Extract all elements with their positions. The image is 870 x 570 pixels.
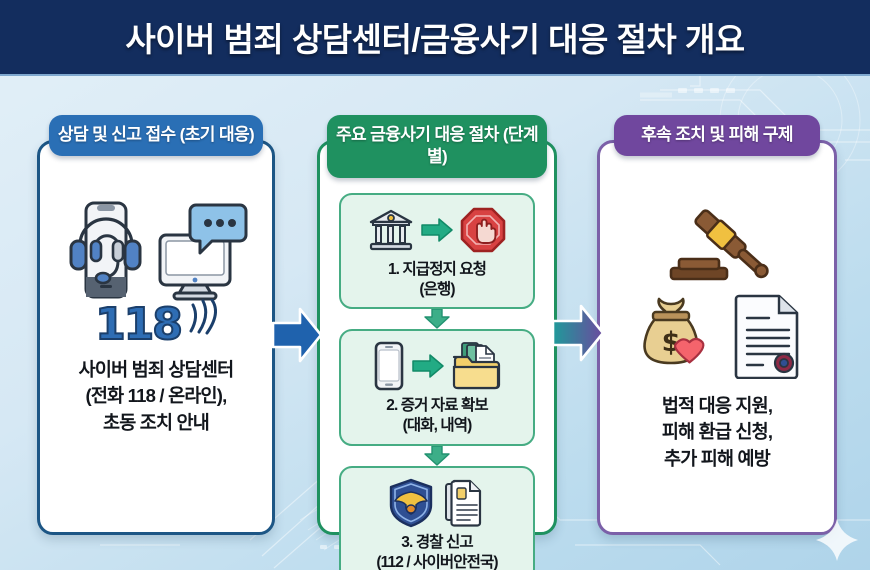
report-documents-icon	[444, 478, 486, 528]
stop-hand-icon	[459, 206, 507, 254]
step-connector-2	[423, 446, 451, 466]
step-3-label: 3. 경찰 신고 (112 / 사이버안전국)	[376, 533, 497, 570]
folder-documents-icon	[450, 341, 502, 391]
followup-caption: 법적 대응 지원, 피해 환급 신청, 추가 피해 예방	[662, 393, 772, 472]
arrow-right-icon	[272, 305, 322, 365]
panel-process: 주요 금융사기 대응 절차 (단계별)	[317, 140, 557, 535]
panel-followup: 후속 조치 및 피해 구제 $	[597, 140, 837, 535]
panel-followup-header: 후속 조치 및 피해 구제	[614, 115, 820, 156]
step-1-label: 1. 지급정지 요청 (은행)	[388, 260, 486, 300]
step-2-icons	[372, 338, 502, 394]
gavel-icon	[657, 201, 777, 291]
sealed-document-icon	[733, 293, 803, 379]
step-card-3[interactable]: 3. 경찰 신고 (112 / 사이버안전국)	[339, 466, 535, 570]
sparkle-icon	[815, 518, 859, 562]
arrow-down-icon	[423, 446, 451, 466]
arrow-right-icon	[411, 353, 445, 379]
hotline-number: 118	[95, 303, 181, 347]
panel-intake-body: 118 사이버 범죄 상담센터 (전화 118 / 온라인), 초동 조치 안내	[40, 143, 272, 532]
step-2-label: 2. 증거 자료 확보 (대화, 내역)	[386, 396, 488, 436]
connector-arrow-intake-to-process	[272, 305, 322, 370]
gavel-illustration	[657, 201, 777, 291]
step-card-1[interactable]: 1. 지급정지 요청 (은행)	[339, 193, 535, 309]
page-title: 사이버 범죄 상담센터/금융사기 대응 절차 개요	[125, 13, 744, 61]
signal-waves-icon	[183, 299, 217, 339]
arrow-right-icon	[552, 302, 604, 364]
step-card-2[interactable]: 2. 증거 자료 확보 (대화, 내역)	[339, 329, 535, 445]
panel-process-body: 1. 지급정지 요청 (은행)	[320, 143, 554, 532]
hotline-badge: 118	[95, 303, 217, 347]
panel-followup-body: $ 법적 대응 지원, 피해 환급 신청, 추가 피해 예방	[600, 143, 834, 532]
arrow-right-icon	[420, 217, 454, 243]
step-connector-1	[423, 309, 451, 329]
phone-headset-icon	[62, 197, 148, 301]
sparkle-decoration	[815, 518, 859, 567]
arrow-down-icon	[423, 309, 451, 329]
connector-arrow-process-to-followup	[552, 302, 604, 369]
step-1-icons	[367, 202, 507, 258]
intake-caption: 사이버 범죄 상담센터 (전화 118 / 온라인), 초동 조치 안내	[79, 357, 234, 436]
monitor-chat-icon	[154, 197, 250, 301]
police-shield-icon	[388, 478, 434, 528]
intake-illustration	[62, 197, 250, 301]
smartphone-icon	[372, 341, 406, 391]
money-bag-heart-icon: $	[631, 293, 721, 379]
title-bar: 사이버 범죄 상담센터/금융사기 대응 절차 개요	[0, 0, 870, 76]
panel-process-header: 주요 금융사기 대응 절차 (단계별)	[327, 115, 547, 178]
relief-illustration: $	[631, 293, 803, 379]
step-3-icons	[388, 475, 486, 531]
panel-intake-header: 상담 및 신고 접수 (초기 대응)	[49, 115, 263, 156]
bank-icon	[367, 206, 415, 254]
infographic-canvas: 사이버 범죄 상담센터/금융사기 대응 절차 개요 상담 및 신고 접수 (초기…	[0, 0, 870, 570]
panel-intake: 상담 및 신고 접수 (초기 대응)	[37, 140, 275, 535]
